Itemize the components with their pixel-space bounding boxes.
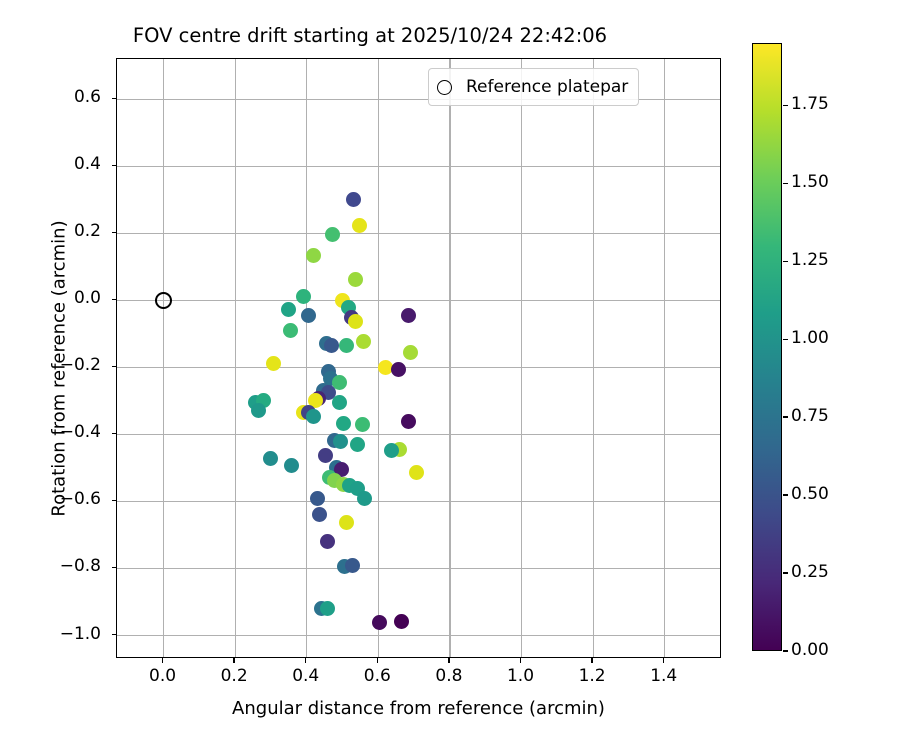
colorbar-tick [783,650,788,651]
scatter-point [266,356,281,371]
scatter-point [348,272,363,287]
y-tick [112,433,117,434]
chart-title: FOV centre drift starting at 2025/10/24 … [0,24,740,47]
y-tick [112,232,117,233]
y-tick-label: −0.6 [21,489,101,509]
colorbar-tick [783,339,788,340]
colorbar-tick [783,416,788,417]
scatter-point [355,417,370,432]
colorbar-tick [783,572,788,573]
reference-platepar-marker-icon [437,80,452,95]
x-tick-label: 0.0 [123,666,203,686]
scatter-point [409,465,424,480]
colorbar-tick-label: 1.75 [791,94,829,114]
scatter-point [283,323,298,338]
scatter-point [336,416,351,431]
x-tick-label: 0.6 [337,666,417,686]
scatter-point [356,334,371,349]
scatter-point [394,614,409,629]
scatter-point [284,458,299,473]
scatter-point [391,362,406,377]
y-tick-label: −0.8 [21,556,101,576]
scatter-point [346,192,361,207]
y-tick [112,366,117,367]
colorbar-tick [783,261,788,262]
x-tick [377,658,378,663]
scatter-point [310,491,325,506]
scatter-point [251,403,266,418]
scatter-point [401,414,416,429]
y-tick-label: −0.4 [21,422,101,442]
y-gridline [117,166,720,167]
y-tick [112,567,117,568]
scatter-point [320,601,335,616]
colorbar-tick-label: 0.50 [791,484,829,504]
x-tick [591,658,592,663]
y-tick [112,500,117,501]
x-tick [305,658,306,663]
colorbar-tick-label: 0.25 [791,562,829,582]
y-tick-label: 0.4 [21,154,101,174]
x-tick-label: 1.4 [624,666,704,686]
colorbar-tick-label: 1.50 [791,172,829,192]
scatter-point [357,491,372,506]
y-tick-label: 0.6 [21,87,101,107]
y-tick [112,634,117,635]
x-tick [520,658,521,663]
scatter-point [352,218,367,233]
scatter-point [324,338,339,353]
scatter-point [301,308,316,323]
scatter-point [339,338,354,353]
legend-label: Reference platepar [466,77,628,97]
colorbar-tick-label: 0.00 [791,640,829,660]
scatter-point [372,615,387,630]
y-gridline [117,367,720,368]
y-tick-label: −0.2 [21,355,101,375]
scatter-point [403,345,418,360]
scatter-point [263,451,278,466]
scatter-point [320,534,335,549]
scatter-point [348,314,363,329]
colorbar-tick [783,183,788,184]
scatter-point [281,302,296,317]
scatter-point [350,437,365,452]
x-tick [162,658,163,663]
y-gridline [117,434,720,435]
x-tick [663,658,664,663]
scatter-point [333,434,348,449]
x-tick-label: 1.0 [481,666,561,686]
reference-platepar-point [155,292,172,309]
colorbar-tick-label: 0.75 [791,406,829,426]
scatter-point [306,248,321,263]
x-tick-label: 1.2 [552,666,632,686]
y-tick [112,98,117,99]
scatter-point [339,515,354,530]
scatter-point [296,289,311,304]
scatter-point [312,507,327,522]
scatter-point [401,308,416,323]
y-gridline [117,568,720,569]
scatter-point [318,448,333,463]
colorbar-tick [783,105,788,106]
colorbar-tick-label: 1.00 [791,328,829,348]
y-gridline [117,501,720,502]
y-tick-label: 0.2 [21,221,101,241]
y-gridline [117,233,720,234]
x-tick-label: 0.4 [266,666,346,686]
x-tick [448,658,449,663]
x-tick-label: 0.2 [194,666,274,686]
figure-canvas: FOV centre drift starting at 2025/10/24 … [0,0,900,750]
scatter-point [325,227,340,242]
colorbar [752,43,782,651]
colorbar-tick [783,494,788,495]
scatter-point [332,395,347,410]
x-tick [233,658,234,663]
x-tick-label: 0.8 [409,666,489,686]
legend: Reference platepar [428,68,639,106]
plot-area [116,58,721,658]
colorbar-tick-label: 1.25 [791,250,829,270]
x-axis-label: Angular distance from reference (arcmin) [116,698,721,719]
y-gridline [117,300,720,301]
y-tick [112,165,117,166]
y-gridline [117,635,720,636]
scatter-point [384,443,399,458]
scatter-point [345,558,360,573]
y-tick-label: 0.0 [21,288,101,308]
scatter-point [306,409,321,424]
y-tick-label: −1.0 [21,624,101,644]
y-tick [112,299,117,300]
